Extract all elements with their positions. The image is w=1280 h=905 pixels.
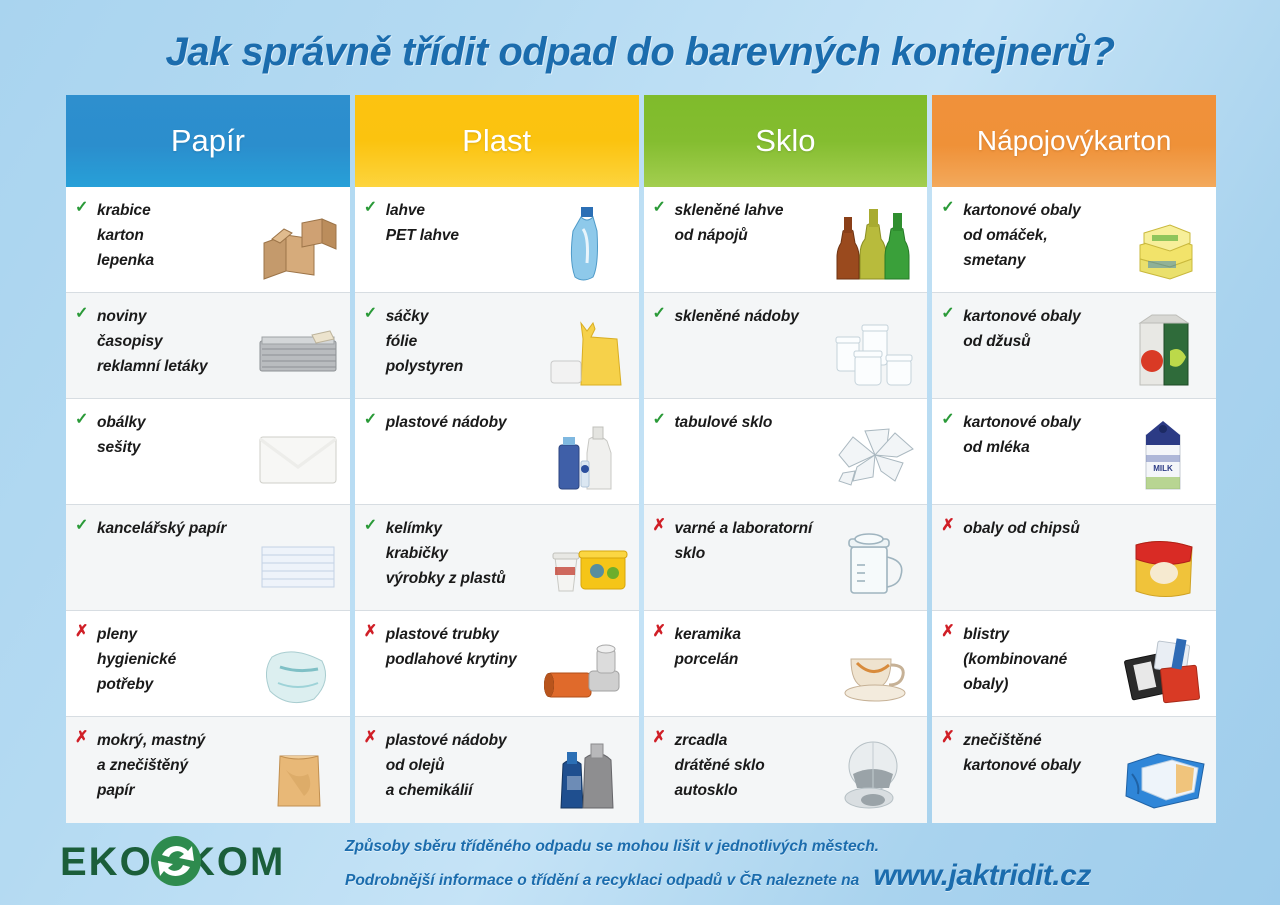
cross-icon: ✗ (653, 728, 675, 817)
cross-icon: ✗ (941, 516, 963, 604)
cell-plast-6: ✗plastové nádobyod olejůa chemikálií (355, 717, 639, 823)
cell-text-line: podlahové krytiny (386, 647, 631, 672)
cell-text: plastové trubkypodlahové krytiny (386, 622, 631, 710)
cell-text-line: výrobky z plastů (386, 566, 631, 591)
check-icon: ✓ (653, 304, 675, 392)
check-icon: ✓ (941, 198, 963, 286)
cell-text-line: plastové nádoby (386, 410, 631, 435)
cell-text: plenyhygienicképotřeby (97, 622, 342, 710)
cell-text-line: fólie (386, 329, 631, 354)
cell-text-line: kartonové obaly (963, 753, 1208, 778)
cell-text-line: a chemikálií (386, 778, 631, 803)
cell-text-line: plastové trubky (386, 622, 631, 647)
cell-plast-2: ✓sáčkyfóliepolystyren (355, 293, 639, 399)
cell-text-line: noviny (97, 304, 342, 329)
cell-glass-5: ✗keramikaporcelán (644, 611, 928, 717)
cell-paper-2: ✓novinyčasopisyreklamní letáky (66, 293, 350, 399)
check-icon: ✓ (75, 410, 97, 498)
cross-icon: ✗ (364, 622, 386, 710)
column-plast: Plast✓lahvePET lahve ✓sáčkyfóliepolystyr… (355, 95, 639, 823)
cell-text-line: krabičky (386, 541, 631, 566)
cell-text: tabulové sklo (675, 410, 920, 498)
cell-text-line: karton (97, 223, 342, 248)
cell-carton-5: ✗ blistry(kombinovanéobaly) (932, 611, 1216, 717)
footer-note-line1: Způsoby sběru tříděného odpadu se mohou … (345, 832, 1091, 861)
cross-icon: ✗ (75, 622, 97, 710)
cell-plast-5: ✗plastové trubkypodlahové krytiny (355, 611, 639, 717)
check-icon: ✓ (364, 410, 386, 498)
page-title: Jak správně třídit odpad do barevných ko… (0, 0, 1280, 75)
check-icon: ✓ (941, 410, 963, 498)
cross-icon: ✗ (653, 622, 675, 710)
cell-paper-3: ✓obálkysešity (66, 399, 350, 505)
cell-text: kartonové obalyod džusů (963, 304, 1208, 392)
cell-text-line: (kombinované (963, 647, 1208, 672)
check-icon: ✓ (653, 198, 675, 286)
cell-text-line: smetany (963, 248, 1208, 273)
cell-text-line: hygienické (97, 647, 342, 672)
cell-text-line: sáčky (386, 304, 631, 329)
cell-text-line: reklamní letáky (97, 354, 342, 379)
cell-paper-6: ✗mokrý, mastnýa znečištěnýpapír (66, 717, 350, 823)
cell-text-line: obaly od chipsů (963, 516, 1208, 541)
cell-text-line: tabulové sklo (675, 410, 920, 435)
cell-text-line: krabice (97, 198, 342, 223)
cell-text-line: polystyren (386, 354, 631, 379)
footer: EKO KOM Způsoby sběru tříděného odpadu s… (0, 827, 1280, 905)
cell-text-line: blistry (963, 622, 1208, 647)
cell-text-line: kancelářský papír (97, 516, 342, 541)
cell-text-line: od olejů (386, 753, 631, 778)
cell-glass-1: ✓skleněné lahveod nápojů (644, 187, 928, 293)
sorting-table: Papír✓krabicekartonlepenka ✓novinyčasopi… (66, 95, 1216, 823)
cell-text-line: sešity (97, 435, 342, 460)
cell-text-line: potřeby (97, 672, 342, 697)
footer-note: Způsoby sběru tříděného odpadu se mohou … (345, 832, 1091, 895)
column-header-line: karton (1094, 126, 1172, 155)
cell-carton-2: ✓kartonové obalyod džusů (932, 293, 1216, 399)
cell-carton-4: ✗obaly od chipsů (932, 505, 1216, 611)
cell-text-line: obaly) (963, 672, 1208, 697)
cell-text: zrcadladrátěné skloautosklo (675, 728, 920, 817)
column-header-glass: Sklo (644, 95, 928, 187)
cell-text-line: keramika (675, 622, 920, 647)
cell-plast-1: ✓lahvePET lahve (355, 187, 639, 293)
check-icon: ✓ (364, 304, 386, 392)
cell-text-line: zrcadla (675, 728, 920, 753)
cell-text-line: lahve (386, 198, 631, 223)
cell-text-line: varné a laboratorní (675, 516, 920, 541)
column-paper: Papír✓krabicekartonlepenka ✓novinyčasopi… (66, 95, 350, 823)
cell-text-line: mokrý, mastný (97, 728, 342, 753)
cell-paper-1: ✓krabicekartonlepenka (66, 187, 350, 293)
footer-note-line2: Podrobnější informace o třídění a recykl… (345, 866, 859, 895)
ekokom-logo: EKO KOM (58, 835, 288, 887)
cell-text-line: od džusů (963, 329, 1208, 354)
cell-text: skleněné lahveod nápojů (675, 198, 920, 286)
cell-text-line: lepenka (97, 248, 342, 273)
column-header-line: Nápojový (977, 126, 1094, 155)
cell-text: kelímkykrabičkyvýrobky z plastů (386, 516, 631, 604)
cross-icon: ✗ (653, 516, 675, 604)
check-icon: ✓ (75, 198, 97, 286)
cell-glass-3: ✓tabulové sklo (644, 399, 928, 505)
cross-icon: ✗ (941, 622, 963, 710)
cell-text-line: kartonové obaly (963, 198, 1208, 223)
svg-text:EKO: EKO (60, 840, 153, 884)
cell-text-line: PET lahve (386, 223, 631, 248)
cell-glass-4: ✗varné a laboratornísklo (644, 505, 928, 611)
cell-text-line: kartonové obaly (963, 304, 1208, 329)
cross-icon: ✗ (941, 728, 963, 817)
cell-text-line: od nápojů (675, 223, 920, 248)
cell-glass-2: ✓skleněné nádoby (644, 293, 928, 399)
cell-plast-4: ✓kelímkykrabičkyvýrobky z plastů (355, 505, 639, 611)
cell-text-line: od omáček, (963, 223, 1208, 248)
cell-text: blistry(kombinovanéobaly) (963, 622, 1208, 710)
cell-carton-6: ✗znečištěnékartonové obaly (932, 717, 1216, 823)
cell-text-line: kelímky (386, 516, 631, 541)
check-icon: ✓ (941, 304, 963, 392)
cell-text: sáčkyfóliepolystyren (386, 304, 631, 392)
cell-text: novinyčasopisyreklamní letáky (97, 304, 342, 392)
cell-text-line: skleněné lahve (675, 198, 920, 223)
cell-text: mokrý, mastnýa znečištěnýpapír (97, 728, 342, 817)
cell-text: lahvePET lahve (386, 198, 631, 286)
cell-text: varné a laboratornísklo (675, 516, 920, 604)
cell-text-line: plastové nádoby (386, 728, 631, 753)
cell-carton-1: ✓kartonové obalyod omáček,smetany (932, 187, 1216, 293)
cell-paper-4: ✓kancelářský papír (66, 505, 350, 611)
cross-icon: ✗ (75, 728, 97, 817)
cell-plast-3: ✓plastové nádoby (355, 399, 639, 505)
website-link[interactable]: www.jaktridit.cz (873, 861, 1091, 890)
check-icon: ✓ (364, 198, 386, 286)
cell-text-line: pleny (97, 622, 342, 647)
cell-text: znečištěnékartonové obaly (963, 728, 1208, 817)
cell-text-line: od mléka (963, 435, 1208, 460)
check-icon: ✓ (75, 516, 97, 604)
cell-glass-6: ✗zrcadladrátěné skloautosklo (644, 717, 928, 823)
cell-text-line: drátěné sklo (675, 753, 920, 778)
cell-text-line: obálky (97, 410, 342, 435)
check-icon: ✓ (653, 410, 675, 498)
column-glass: Sklo✓skleněné lahveod nápojů ✓skleněné n… (644, 95, 928, 823)
check-icon: ✓ (75, 304, 97, 392)
column-carton: Nápojovýkarton✓kartonové obalyod omáček,… (932, 95, 1216, 823)
cell-text-line: papír (97, 778, 342, 803)
cell-text-line: a znečištěný (97, 753, 342, 778)
cell-carton-3: ✓kartonové obalyod mléka MILK (932, 399, 1216, 505)
column-header-carton: Nápojovýkarton (932, 95, 1216, 187)
cell-text: krabicekartonlepenka (97, 198, 342, 286)
cell-text-line: autosklo (675, 778, 920, 803)
cell-paper-5: ✗plenyhygienicképotřeby (66, 611, 350, 717)
cell-text: obaly od chipsů (963, 516, 1208, 604)
cell-text-line: znečištěné (963, 728, 1208, 753)
check-icon: ✓ (364, 516, 386, 604)
cell-text-line: porcelán (675, 647, 920, 672)
cell-text-line: skleněné nádoby (675, 304, 920, 329)
column-header-plast: Plast (355, 95, 639, 187)
cross-icon: ✗ (364, 728, 386, 817)
cell-text: kancelářský papír (97, 516, 342, 604)
cell-text: kartonové obalyod omáček,smetany (963, 198, 1208, 286)
cell-text: obálkysešity (97, 410, 342, 498)
column-header-paper: Papír (66, 95, 350, 187)
cell-text: keramikaporcelán (675, 622, 920, 710)
cell-text: plastové nádoby (386, 410, 631, 498)
cell-text: skleněné nádoby (675, 304, 920, 392)
cell-text-line: sklo (675, 541, 920, 566)
cell-text: kartonové obalyod mléka (963, 410, 1208, 498)
cell-text-line: časopisy (97, 329, 342, 354)
cell-text-line: kartonové obaly (963, 410, 1208, 435)
cell-text: plastové nádobyod olejůa chemikálií (386, 728, 631, 817)
